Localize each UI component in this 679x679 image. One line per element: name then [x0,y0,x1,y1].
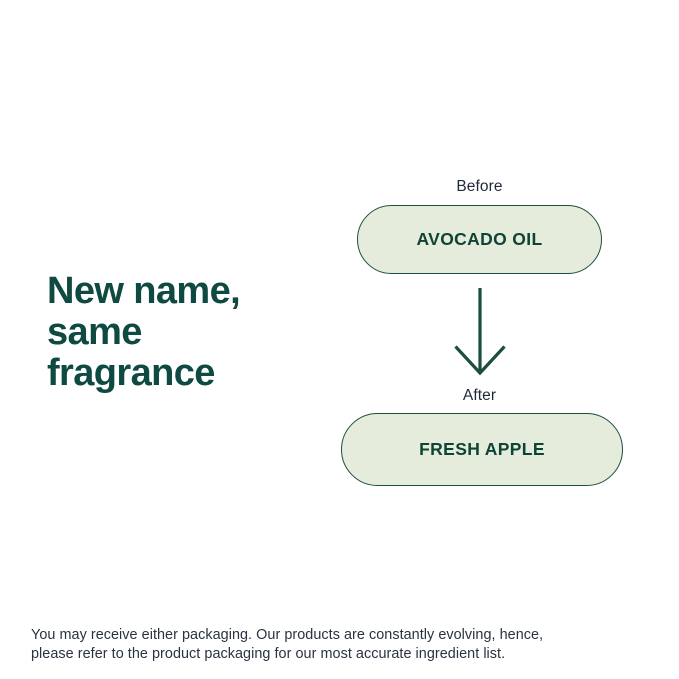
headline-line-2: same [47,312,327,353]
product-rename-infographic: New name, same fragrance Before AVOCADO … [0,0,679,679]
headline-line-1: New name, [47,271,327,312]
after-label: After [330,387,629,405]
disclaimer-text: You may receive either packaging. Our pr… [31,626,641,664]
after-product-pill: FRESH APPLE [341,413,623,486]
page-title: New name, same fragrance [47,271,327,394]
headline-line-3: fragrance [47,353,327,394]
before-product-name: AVOCADO OIL [416,229,542,250]
before-after-flow: Before AVOCADO OIL After FRESH APPLE [330,170,640,495]
disclaimer-line-1: You may receive either packaging. Our pr… [31,626,641,645]
before-label: Before [330,178,629,196]
after-product-name: FRESH APPLE [419,439,545,460]
disclaimer-line-2: please refer to the product packaging fo… [31,645,641,664]
arrow-down-icon [452,286,508,376]
before-product-pill: AVOCADO OIL [357,205,602,274]
